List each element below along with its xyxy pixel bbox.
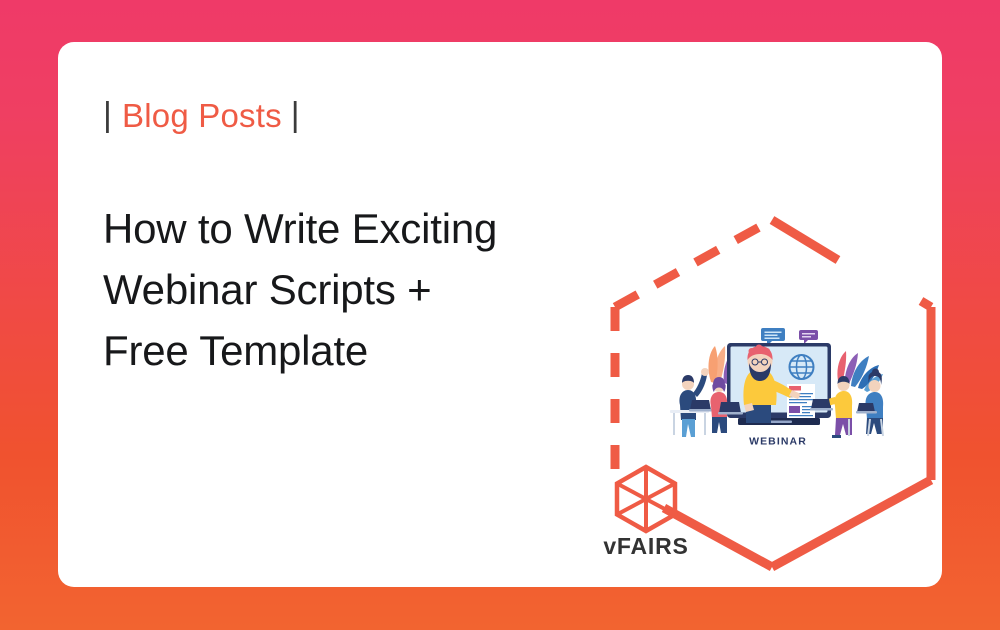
document-panel (787, 384, 815, 418)
webinar-illustration: WEBINAR (663, 317, 893, 452)
poster-canvas: | Blog Posts | How to Write Exciting Web… (0, 0, 1000, 630)
hexagon-edge-top-right (772, 220, 838, 260)
hexagon-corner-right (921, 301, 931, 307)
eyebrow-left-pipe: | (103, 98, 112, 132)
vfairs-wordmark: vFAIRS (590, 534, 702, 559)
hexagon-edge-top-left (615, 220, 772, 307)
chat-bubble-purple-icon (799, 330, 818, 344)
vfairs-hexagon-icon (612, 464, 680, 534)
eyebrow-right-pipe: | (291, 98, 300, 132)
headline-line-3: Free Template (103, 320, 573, 381)
graphic-area: WEBINAR vFAIRS (528, 42, 942, 587)
audience-figure-left (670, 368, 713, 437)
content-card: | Blog Posts | How to Write Exciting Web… (58, 42, 942, 587)
eyebrow-label: Blog Posts (112, 99, 291, 132)
illustration-caption: WEBINAR (749, 436, 807, 448)
hexagon-edge-bottom-right (772, 480, 931, 567)
category-eyebrow: | Blog Posts | (103, 98, 300, 132)
page-title: How to Write Exciting Webinar Scripts + … (103, 198, 573, 381)
headline-line-2: Webinar Scripts + (103, 259, 573, 320)
vfairs-logo: vFAIRS (590, 464, 702, 576)
headline-line-1: How to Write Exciting (103, 198, 573, 259)
